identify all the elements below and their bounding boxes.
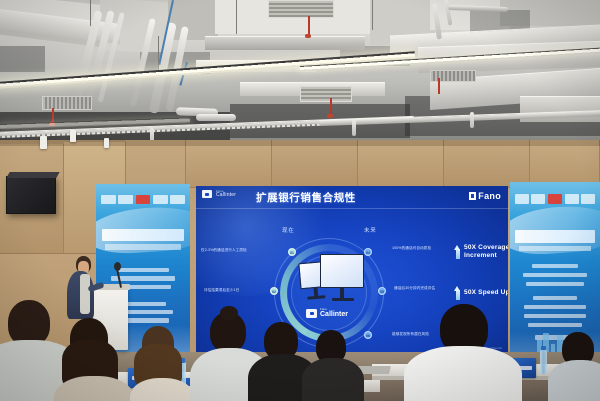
node-label-04: 100%的通话可自动质检 [392, 246, 448, 251]
node-label-01: 仅2-3%的通话进行人工质检 [201, 248, 273, 253]
diagram-node-02[interactable]: 02 [270, 287, 278, 295]
wall-panel [444, 140, 530, 188]
diagram-node-05[interactable]: 05 [378, 287, 386, 295]
node-label-02: 评估结果滞后至少1日 [204, 288, 270, 293]
ceiling-vent [430, 70, 476, 82]
node-label-05: 通话后30分钟内完成评估 [394, 286, 446, 291]
presenter-at-lectern [66, 256, 96, 316]
callinter-wordmark: Fano Callinter [216, 190, 236, 198]
wall-speaker [6, 176, 56, 214]
hanger-rod [158, 36, 159, 74]
pipe-elbow [196, 114, 236, 121]
audience-body [548, 360, 600, 401]
audience-member [414, 304, 510, 401]
sprinkler-head [327, 114, 333, 118]
up-arrow-icon [454, 286, 461, 300]
presenter-vest [80, 274, 90, 314]
banner-text-line [523, 273, 588, 277]
ceiling-vent [42, 96, 92, 110]
speaker-grille [7, 177, 55, 213]
wall-panel [186, 140, 272, 188]
banner-subtitle [105, 244, 180, 249]
audience-body [130, 378, 194, 401]
wall-shadow [0, 140, 600, 146]
fano-wordmark: Fano [478, 191, 501, 201]
sprinkler-pipe [308, 16, 310, 36]
sponsor-logo [170, 195, 185, 204]
hanger-rod [90, 0, 91, 26]
title-divider [196, 208, 508, 209]
fano-mark-icon [469, 192, 476, 200]
ceiling-slab [168, 0, 218, 40]
slide-title: 扩展银行销售合规性 [256, 190, 356, 205]
callinter-logo: Fano Callinter [202, 190, 236, 198]
ceiling-recess [0, 46, 45, 72]
column-label-now: 现在 [282, 226, 295, 234]
diagram-node-01[interactable]: 01 [288, 248, 296, 256]
sprinkler-pipe [438, 78, 440, 94]
tray-support [470, 112, 474, 128]
sprinkler-head [305, 34, 311, 38]
monitor-primary [320, 254, 364, 306]
ceiling-vent [268, 0, 334, 18]
column-label-future: 未来 [364, 226, 377, 234]
callinter-mark-icon [202, 190, 212, 198]
downlight [104, 138, 109, 148]
conference-room-photo: Fano Callinter 扩展银行销售合规性 Fano 现在 未来 01 0… [0, 0, 600, 401]
water-bottle [540, 350, 547, 374]
center-tagline: Fano [320, 308, 348, 311]
kpi-coverage: 50X Coverage Increment [454, 244, 508, 260]
kpi-speed: 50X Speed Up [454, 286, 508, 300]
audience-hair-bun [220, 306, 238, 320]
center-wordmark: Fano Callinter [320, 308, 348, 318]
downlight [70, 130, 76, 142]
monitor-screen [320, 254, 364, 288]
sponsor-logo [101, 195, 116, 204]
banner-subtitle [519, 246, 591, 251]
center-callinter-logo: Fano Callinter [306, 308, 348, 318]
speaker-top [6, 172, 59, 178]
callinter-mark-icon [306, 309, 317, 318]
kpi-speed-label: 50X Speed Up [464, 289, 508, 297]
banner-text-line [524, 314, 585, 318]
sponsor-logo [565, 194, 579, 204]
audience-body [302, 358, 364, 401]
diagram-node-06[interactable]: 06 [364, 331, 372, 339]
sponsor-logo [118, 195, 133, 204]
sponsor-logo [153, 195, 168, 204]
banner-text-line [528, 323, 582, 327]
sponsor-logo-row [100, 192, 187, 207]
air-duct [205, 36, 365, 50]
bottle-cap [541, 346, 546, 350]
audience-member [132, 326, 190, 401]
ceiling-vent [300, 86, 352, 102]
callinter-tagline: Fano [216, 190, 236, 193]
sponsor-logo-row [514, 191, 597, 207]
hanger-rod [372, 0, 373, 30]
up-arrow-icon [454, 245, 461, 259]
audience-member [306, 330, 358, 401]
kpi-coverage-label: 50X Coverage Increment [464, 244, 508, 260]
audience-member [58, 318, 128, 401]
wall-panel [272, 140, 358, 188]
industrial-ceiling [0, 0, 600, 152]
sponsor-logo [515, 194, 529, 204]
banner-title [515, 230, 594, 242]
banner-text-line [524, 305, 585, 309]
banner-text-line [533, 296, 576, 300]
banner-text-line [532, 264, 579, 268]
tray-support [352, 120, 356, 136]
banner-text-line [117, 268, 170, 272]
fano-logo: Fano [469, 191, 501, 201]
diagram-node-04[interactable]: 04 [364, 248, 372, 256]
downlight [40, 136, 47, 149]
monitor-base [332, 298, 354, 301]
wall-panel [530, 140, 600, 188]
sponsor-logo [136, 195, 151, 204]
sponsor-logo [531, 194, 545, 204]
banner-title [102, 229, 185, 241]
banner-text-line [526, 282, 584, 286]
microphone-head [114, 262, 121, 271]
sponsor-logo [548, 194, 562, 204]
monitor-neck [340, 288, 344, 298]
center-name: Callinter [320, 311, 348, 318]
audience-member [552, 332, 600, 401]
sponsor-logo [581, 194, 595, 204]
audience-body [404, 346, 522, 401]
hanger-rod [236, 0, 237, 34]
wall-panel [358, 140, 444, 188]
